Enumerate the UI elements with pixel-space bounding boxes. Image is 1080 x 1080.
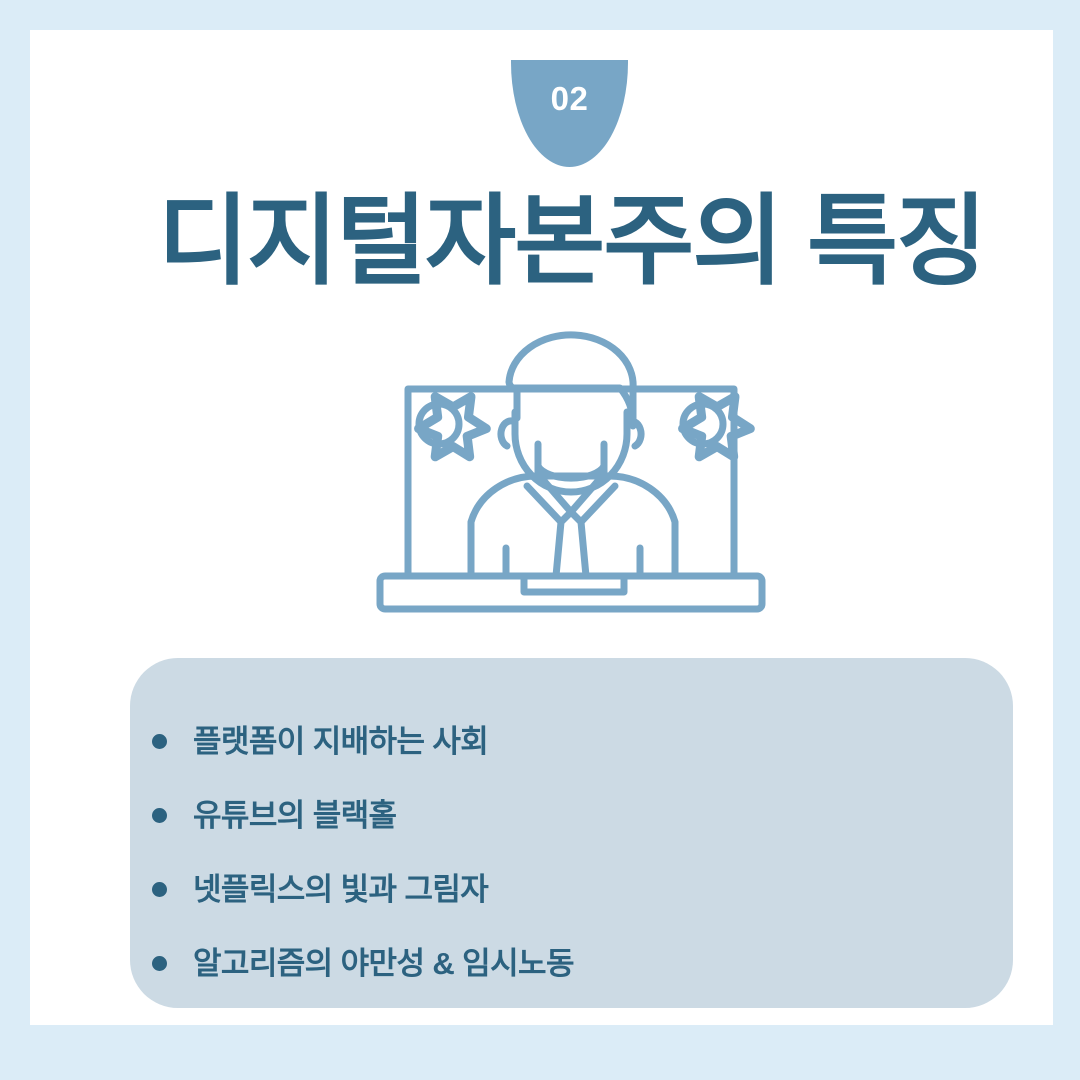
list-item-label: 넷플릭스의 빛과 그림자 [193,874,488,905]
list-item[interactable]: 알고리즘의 야만성 & 임시노동 [152,926,1013,1000]
slide-card: 02 디지털자본주의 특징 [30,30,1053,1025]
list-item[interactable]: 유튜브의 블랙홀 [152,778,1013,852]
slide-root: 02 디지털자본주의 특징 [0,0,1080,1080]
bullet-icon [152,734,167,749]
bullet-icon [152,956,167,971]
section-number-label: 02 [551,82,589,115]
list-item-label: 알고리즘의 야만성 & 임시노동 [193,948,574,979]
list-item[interactable]: 플랫폼이 지배하는 사회 [152,704,1013,778]
list-item[interactable]: 넷플릭스의 빛과 그림자 [152,852,1013,926]
bullet-icon [152,882,167,897]
gear-right-icon [683,397,751,457]
illustration-svg [375,326,767,622]
section-number-badge: 02 [511,60,628,167]
person-neck-base-icon [538,466,604,478]
gear-left-icon [419,397,487,457]
page-title: 디지털자본주의 특징 [60,186,1053,297]
person-hair-icon [509,335,633,426]
necktie-icon [556,512,586,576]
feature-list-panel: 플랫폼이 지배하는 사회 유튜브의 블랙홀 넷플릭스의 빛과 그림자 알고리즘의… [130,658,1013,1008]
illustration-businessman-on-laptop [375,326,767,622]
list-item-label: 유튜브의 블랙홀 [193,800,396,831]
list-item-label: 플랫폼이 지배하는 사회 [193,726,488,757]
bullet-icon [152,808,167,823]
